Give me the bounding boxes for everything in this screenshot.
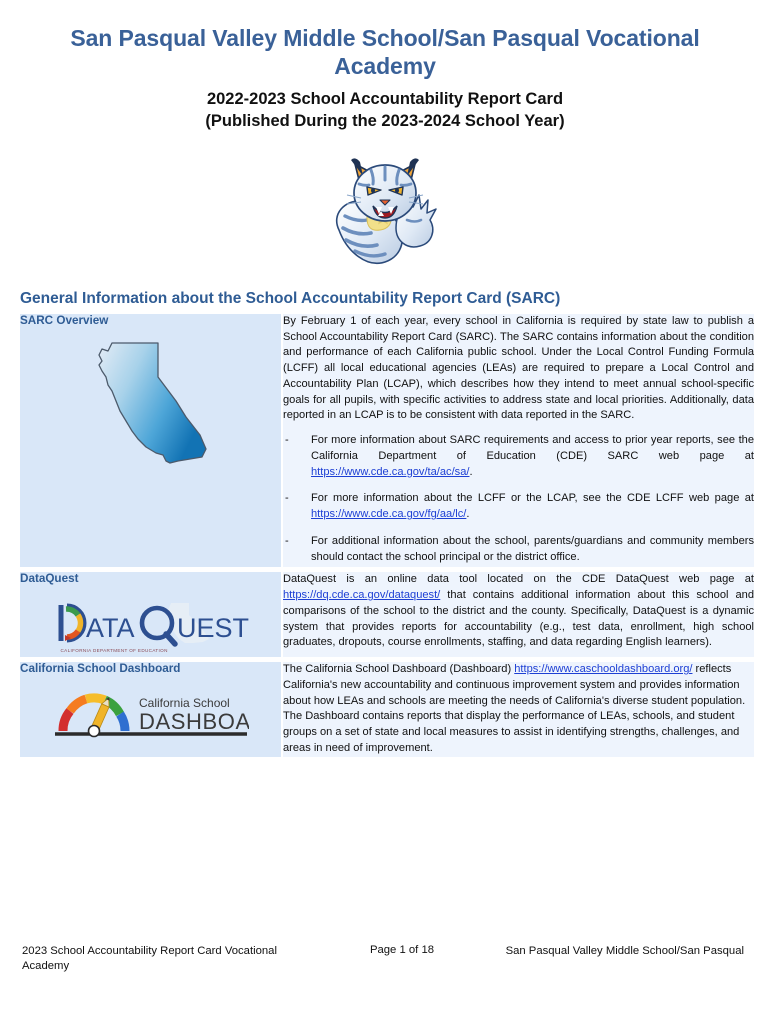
dashboard-logo-container: California School DASHBOARD [20,687,281,748]
report-subtitle-line2: (Published During the 2023-2024 School Y… [60,111,710,132]
wildcat-mascot-icon [315,144,455,279]
bullet-3-text: For additional information about the sch… [311,535,754,563]
general-information-table: SARC Overview [20,314,754,757]
svg-text:UEST: UEST [177,613,249,643]
dashboard-paragraph: The California School Dashboard (Dashboa… [283,662,754,757]
bullet-2-text-post: . [466,508,469,520]
sarc-document-page: San Pasqual Valley Middle School/San Pas… [0,0,770,1024]
list-item: -For more information about SARC require… [283,433,754,480]
dataquest-logo-icon: ATA UEST CALIFORNIA DEPARTMENT OF EDUCAT… [53,599,249,653]
dataquest-label-cell: DataQuest [20,572,281,657]
report-subtitle: 2022-2023 School Accountability Report C… [60,89,710,132]
footer-left-text: 2023 School Accountability Report Card V… [22,944,322,975]
bullet-dash: - [285,491,289,507]
bullet-1-text-post: . [469,466,472,478]
dashboard-label-cell: California School Dashboard [20,662,281,757]
page-title: San Pasqual Valley Middle School/San Pas… [60,24,710,80]
sarc-overview-bullet-list: -For more information about SARC require… [283,433,754,565]
sarc-overview-paragraph: By February 1 of each year, every school… [283,314,754,424]
footer-right-text: San Pasqual Valley Middle School/San Pas… [482,944,748,959]
california-school-dashboard-logo-icon: California School DASHBOARD [53,730,249,747]
california-map-container [20,335,281,555]
sarc-overview-label-cell: SARC Overview [20,314,281,568]
bullet-dash: - [285,534,289,550]
sarc-overview-text: By February 1 of each year, every school… [283,314,754,566]
cde-lcff-web-page-link[interactable]: https://www.cde.ca.gov/fg/aa/lc/ [311,508,466,520]
document-footer: 2023 School Accountability Report Card V… [0,944,770,975]
table-row-dataquest: DataQuest [20,572,754,657]
dashboard-text-cell: The California School Dashboard (Dashboa… [281,662,754,757]
dashboard-text: The California School Dashboard (Dashboa… [283,662,754,757]
dashboard-text-post: reflects California's new accountability… [283,663,745,754]
sarc-overview-label: SARC Overview [20,314,281,329]
bullet-dash: - [285,433,289,449]
dashboard-text-pre: The California School Dashboard (Dashboa… [283,663,514,675]
dashboard-logo-line2-text: DASHBOARD [139,709,249,734]
california-state-map-icon [66,537,236,554]
dataquest-text-cell: DataQuest is an online data tool located… [281,572,754,657]
dataquest-logo-tagline: CALIFORNIA DEPARTMENT OF EDUCATION [61,648,249,653]
dataquest-text: DataQuest is an online data tool located… [283,572,754,651]
list-item: -For more information about the LCFF or … [283,491,754,523]
dataquest-label: DataQuest [20,572,281,587]
svg-text:ATA: ATA [86,613,135,643]
mascot-container [0,144,770,276]
list-item: -For additional information about the sc… [283,534,754,566]
dataquest-web-page-link[interactable]: https://dq.cde.ca.gov/dataquest/ [283,589,440,601]
bullet-2-text: For more information about the LCFF or t… [311,492,754,504]
caschooldashboard-link[interactable]: https://www.caschooldashboard.org/ [514,663,692,675]
document-header: San Pasqual Valley Middle School/San Pas… [0,0,770,132]
sarc-overview-text-cell: By February 1 of each year, every school… [281,314,754,568]
dashboard-label: California School Dashboard [20,662,281,677]
footer-page-number: Page 1 of 18 [322,944,482,956]
report-subtitle-line1: 2022-2023 School Accountability Report C… [60,89,710,110]
cde-sarc-web-page-link[interactable]: https://www.cde.ca.gov/ta/ac/sa/ [311,466,469,478]
section-heading-general-information: General Information about the School Acc… [20,290,770,308]
bullet-1-text: For more information about SARC requirem… [311,434,754,462]
dataquest-logo-container: ATA UEST CALIFORNIA DEPARTMENT OF EDUCAT… [20,599,281,657]
dataquest-text-pre: DataQuest is an online data tool located… [283,573,754,585]
dataquest-paragraph: DataQuest is an online data tool located… [283,572,754,651]
dashboard-logo-line1-text: California School [139,696,230,710]
table-row-california-school-dashboard: California School Dashboard [20,662,754,757]
table-row-sarc-overview: SARC Overview [20,314,754,568]
